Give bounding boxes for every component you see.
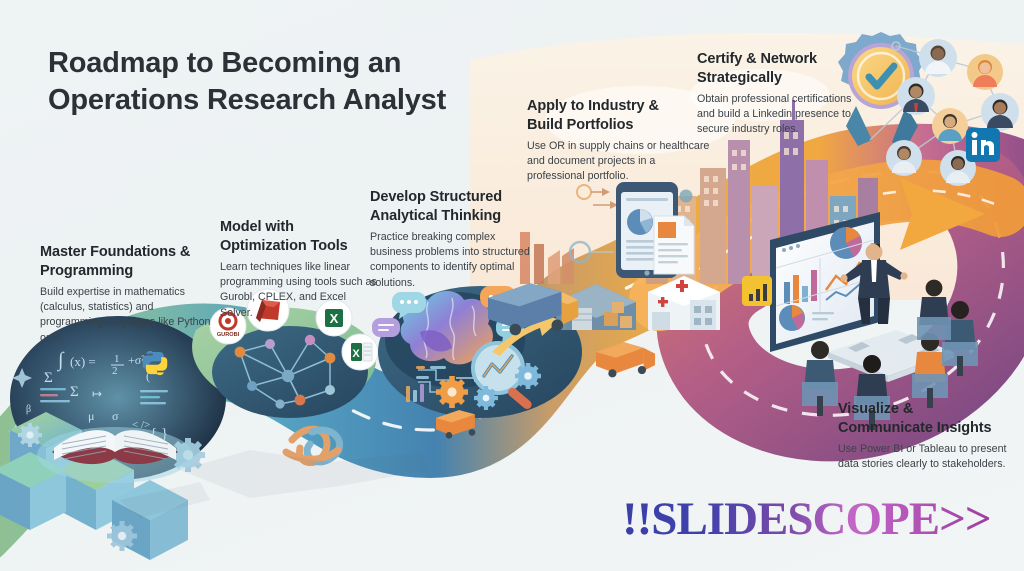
step-model-optimization-tools: Model with Optimization Tools Learn tech…	[220, 218, 380, 321]
pie-chart-icon	[830, 227, 862, 259]
step-body: Practice breaking complex business probl…	[370, 230, 535, 291]
infographic-canvas: ∫ (x) = 1 2 +σ² Σ Σ ↦ μ σ π β λ { } < />	[0, 0, 1024, 571]
step-body: Use Power BI or Tableau to present data …	[838, 442, 1016, 472]
excel-sheet-icon: X	[342, 334, 378, 370]
svg-text:Σ: Σ	[44, 370, 53, 386]
step1-illustration: ∫ (x) = 1 2 +σ² Σ Σ ↦ μ σ π β λ { } < />	[0, 316, 226, 560]
page-title: Roadmap to Becoming an Operations Resear…	[48, 45, 488, 118]
svg-text:↦: ↦	[92, 387, 102, 401]
svg-text:Σ: Σ	[70, 384, 79, 400]
title-line-2: Operations Research Analyst	[48, 82, 488, 119]
step-visualize-communicate-insights: Visualize & Communicate Insights Use Pow…	[838, 400, 1016, 472]
step-body: Learn techniques like linear programming…	[220, 260, 380, 321]
step-certify-network-strategically: Certify & Network Strategically Obtain p…	[697, 50, 872, 138]
powerbi-logo-icon	[742, 276, 772, 306]
step-body: Build expertise in mathematics (calculus…	[40, 285, 215, 346]
step-heading: Visualize & Communicate Insights	[838, 400, 1016, 437]
svg-text:β: β	[26, 404, 31, 415]
step-heading: Master Foundations & Programming	[40, 243, 215, 280]
step-develop-structured-analytical-thinking: Develop Structured Analytical Thinking P…	[370, 188, 535, 291]
svg-text:GUROBI: GUROBI	[217, 332, 240, 338]
title-line-1: Roadmap to Becoming an	[48, 47, 401, 79]
svg-text:X: X	[352, 348, 360, 360]
step-body: Use OR in supply chains or healthcare an…	[527, 139, 712, 185]
step-heading: Model with Optimization Tools	[220, 218, 380, 255]
step-heading: Develop Structured Analytical Thinking	[370, 188, 535, 225]
svg-text:σ: σ	[112, 409, 119, 423]
step-heading: Apply to Industry & Build Portfolios	[527, 97, 712, 134]
step-heading: Certify & Network Strategically	[697, 50, 872, 87]
slidescope-logo: !!SLIDESCOPE>>	[622, 496, 991, 543]
svg-text:2: 2	[112, 365, 118, 377]
step-apply-to-industry-build-portfolios: Apply to Industry & Build Portfolios Use…	[527, 97, 712, 185]
pie-chart-icon	[627, 209, 653, 235]
step-body: Obtain professional certifications and b…	[697, 92, 872, 138]
svg-text:μ: μ	[88, 409, 94, 423]
linkedin-logo-icon	[966, 128, 1000, 162]
open-book-icon	[37, 427, 193, 483]
svg-text:1: 1	[114, 353, 120, 365]
pie-chart-icon	[779, 305, 805, 331]
document-icon	[654, 216, 694, 274]
svg-text:(x) =: (x) =	[70, 354, 96, 369]
step-master-foundations: Master Foundations & Programming Build e…	[40, 243, 215, 346]
